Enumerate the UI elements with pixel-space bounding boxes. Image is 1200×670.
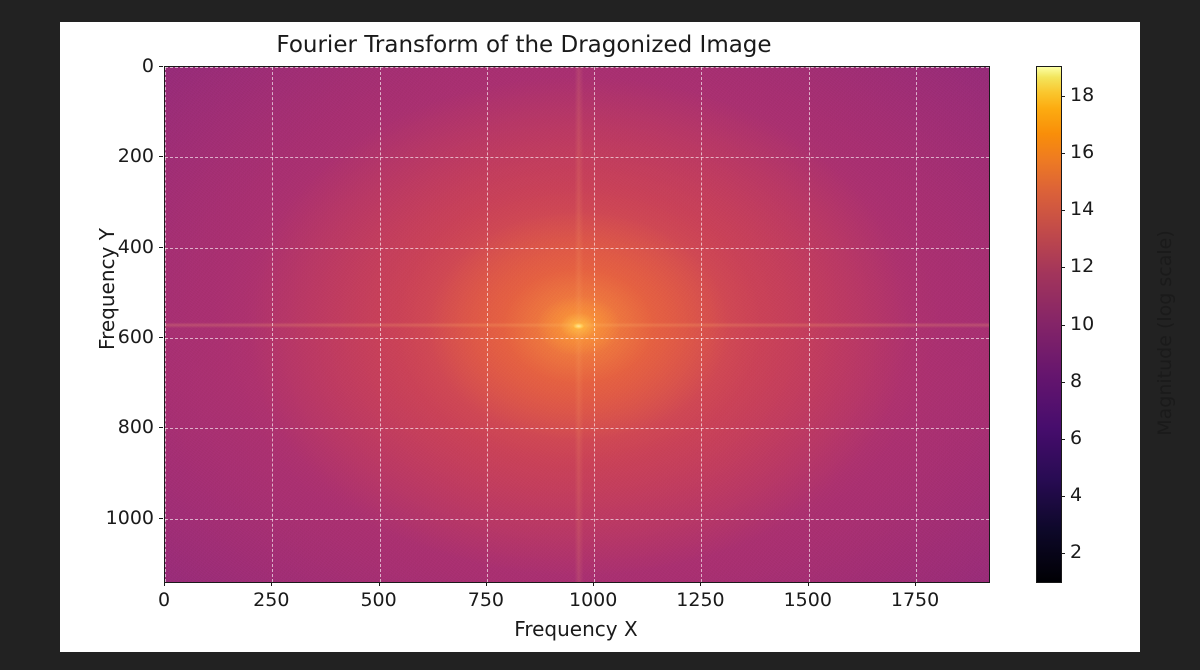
x-tick-mark: [700, 582, 701, 586]
x-tick-label: 500: [360, 589, 396, 611]
colorbar-tick-mark: [1061, 325, 1065, 326]
y-tick-mark: [159, 518, 163, 519]
colorbar-label: Magnitude (log scale): [1154, 203, 1176, 463]
y-tick-mark: [159, 247, 163, 248]
x-tick-label: 1000: [569, 589, 617, 611]
colorbar-tick-label: 12: [1070, 255, 1094, 277]
colorbar-tick-mark: [1061, 553, 1065, 554]
matplotlib-figure: Fourier Transform of the Dragonized Imag…: [60, 22, 1140, 652]
colorbar-tick-label: 8: [1070, 370, 1082, 392]
fft-magnitude-image: [165, 67, 989, 582]
x-tick-mark: [271, 582, 272, 586]
x-tick-mark: [379, 582, 380, 586]
x-tick-mark: [164, 582, 165, 586]
y-tick-label: 200: [118, 145, 154, 167]
colorbar-tick-mark: [1061, 96, 1065, 97]
colorbar-tick-label: 10: [1070, 313, 1094, 335]
screenshot-root: Fourier Transform of the Dragonized Imag…: [0, 0, 1200, 670]
y-tick-mark: [159, 156, 163, 157]
x-axis-label: Frequency X: [164, 617, 988, 641]
x-tick-mark: [808, 582, 809, 586]
y-tick-mark: [159, 337, 163, 338]
colorbar-tick-mark: [1061, 267, 1065, 268]
x-tick-mark: [486, 582, 487, 586]
colorbar-axes: [1036, 66, 1062, 583]
colorbar-tick-mark: [1061, 153, 1065, 154]
colorbar-tick-label: 14: [1070, 198, 1094, 220]
fft-heatmap-axes: [164, 66, 990, 583]
colorbar-tick-mark: [1061, 210, 1065, 211]
colorbar-tick-mark: [1061, 496, 1065, 497]
colorbar-tick-label: 6: [1070, 427, 1082, 449]
y-tick-label: 600: [118, 326, 154, 348]
x-tick-label: 0: [158, 589, 170, 611]
y-tick-label: 800: [118, 416, 154, 438]
x-tick-label: 1500: [784, 589, 832, 611]
x-tick-label: 1250: [676, 589, 724, 611]
x-tick-label: 750: [468, 589, 504, 611]
x-tick-mark: [915, 582, 916, 586]
y-axis-label: Frequency Y: [95, 189, 119, 389]
x-tick-label: 250: [253, 589, 289, 611]
colorbar-tick-label: 4: [1070, 484, 1082, 506]
colorbar-tick-mark: [1061, 382, 1065, 383]
x-tick-mark: [593, 582, 594, 586]
y-tick-mark: [159, 66, 163, 67]
colorbar-gradient: [1037, 67, 1061, 582]
y-tick-mark: [159, 427, 163, 428]
x-tick-label: 1750: [891, 589, 939, 611]
chart-title: Fourier Transform of the Dragonized Imag…: [60, 32, 988, 58]
colorbar-tick-label: 18: [1070, 84, 1094, 106]
colorbar-tick-label: 16: [1070, 141, 1094, 163]
y-tick-label: 1000: [106, 507, 154, 529]
y-tick-label: 0: [142, 55, 154, 77]
y-tick-label: 400: [118, 236, 154, 258]
colorbar-tick-label: 2: [1070, 541, 1082, 563]
colorbar-tick-mark: [1061, 439, 1065, 440]
